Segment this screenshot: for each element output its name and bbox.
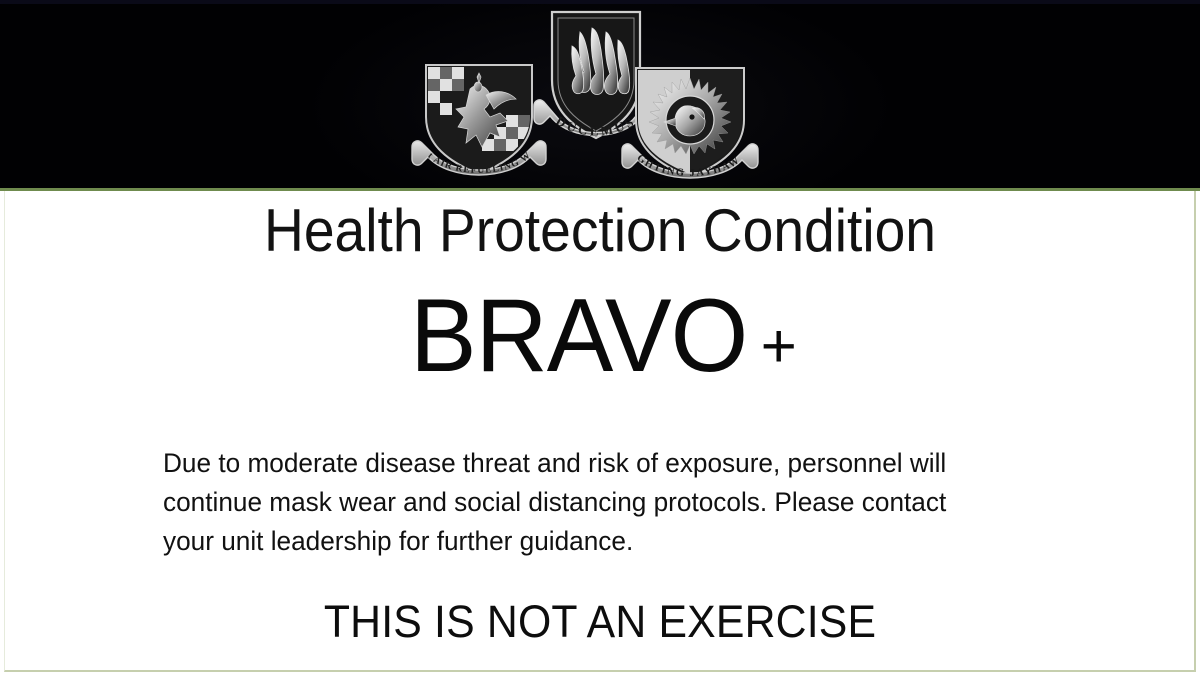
exercise-notice: THIS IS NOT AN EXERCISE [30,597,1170,647]
page-title: Health Protection Condition [48,199,1152,263]
header-banner: 931st AIR REFUELING WING 931st AIR REFUE… [0,0,1200,190]
emblem-group: 931st AIR REFUELING WING 931st AIR REFUE… [0,0,1200,190]
guidance-paragraph: Due to moderate disease threat and risk … [163,444,988,561]
hpcon-level-word: BRAVO [410,281,747,391]
guidance-paragraph-text: Due to moderate disease threat and risk … [163,444,988,561]
hpcon-level-modifier: + [761,311,797,382]
hpcon-announcement-slide: 931st AIR REFUELING WING 931st AIR REFUE… [0,0,1200,675]
hpcon-level: BRAVO+ [0,281,1200,391]
emblem-fighting-jayhawks: FIGHTING JAYHAWKS FIGHTING JAYHAWKS [614,58,766,190]
